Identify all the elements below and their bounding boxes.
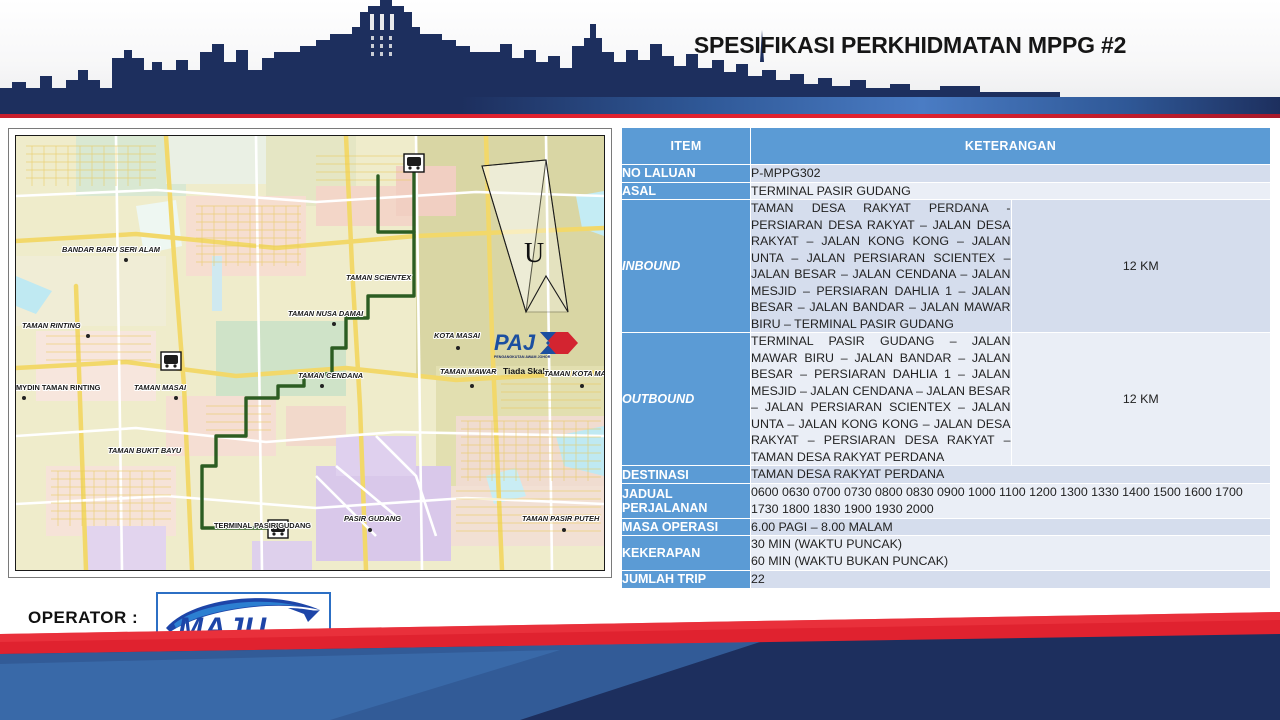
banner-red-bar (0, 114, 1280, 118)
row-value-outbound: TERMINAL PASIR GUDANG – JALAN MAWAR BIRU… (751, 333, 1011, 465)
top-banner: SPESIFIKASI PERKHIDMATAN MPPG #2 (0, 0, 1280, 118)
table-row: JADUAL PERJALANAN0600 0630 0700 0730 080… (622, 484, 1270, 517)
row-value-no-laluan: P-MPPG302 (751, 165, 1270, 182)
row-value-jadual-perjalanan: 0600 0630 0700 0730 0800 0830 0900 1000 … (751, 484, 1270, 517)
table-row: INBOUNDTAMAN DESA RAKYAT PERDANA - PERSI… (622, 200, 1270, 332)
svg-text:TAMAN NUSA DAMAI: TAMAN NUSA DAMAI (288, 309, 364, 318)
bus-stop-icon-north (404, 154, 424, 172)
row-label-jadual-perjalanan: JADUAL PERJALANAN (622, 484, 751, 517)
table-row: NO LALUANP-MPPG302 (622, 165, 1270, 182)
page-title: SPESIFIKASI PERKHIDMATAN MPPG #2 (560, 32, 1260, 59)
row-label-no-laluan: NO LALUAN (622, 165, 751, 182)
table-row: JUMLAH TRIP22 (622, 571, 1270, 588)
table-row: MASA OPERASI6.00 PAGI – 8.00 MALAM (622, 519, 1270, 536)
svg-text:TAMAN CENDANA: TAMAN CENDANA (298, 371, 363, 380)
svg-text:PASIR GUDANG: PASIR GUDANG (344, 514, 401, 523)
table-row: DESTINASITAMAN DESA RAKYAT PERDANA (622, 466, 1270, 483)
col-header-item: ITEM (622, 128, 751, 164)
table-header-row: ITEM KETERANGAN (622, 128, 1270, 164)
col-header-keterangan: KETERANGAN (751, 128, 1270, 164)
row-label-inbound: INBOUND (622, 200, 751, 332)
svg-text:MYDIN TAMAN RINTING: MYDIN TAMAN RINTING (16, 383, 101, 392)
row-value-kekerapan: 30 MIN (WAKTU PUNCAK)60 MIN (WAKTU BUKAN… (751, 536, 1270, 569)
table-row: ASALTERMINAL PASIR GUDANG (622, 183, 1270, 200)
row-label-asal: ASAL (622, 183, 751, 200)
svg-text:TERMINAL PASIR GUDANG: TERMINAL PASIR GUDANG (214, 521, 311, 530)
svg-text:TAMAN KOTA MASAI: TAMAN KOTA MASAI (544, 369, 604, 378)
table-row: KEKERAPAN30 MIN (WAKTU PUNCAK)60 MIN (WA… (622, 536, 1270, 569)
row-distance: 12 KM (1011, 333, 1271, 465)
scale-note: Tiada Skala (503, 366, 550, 376)
row-value-asal: TERMINAL PASIR GUDANG (751, 183, 1270, 200)
row-value-inbound: TAMAN DESA RAKYAT PERDANA - PERSIARAN DE… (751, 200, 1011, 332)
row-value-masa-operasi: 6.00 PAGI – 8.00 MALAM (751, 519, 1270, 536)
service-spec-table: ITEM KETERANGAN NO LALUANP-MPPG302ASALTE… (622, 127, 1270, 589)
row-value-jumlah-trip: 22 (751, 571, 1270, 588)
row-label-masa-operasi: MASA OPERASI (622, 519, 751, 536)
svg-text:BANDAR BARU SERI ALAM: BANDAR BARU SERI ALAM (62, 245, 161, 254)
svg-text:TAMAN BUKIT BAYU: TAMAN BUKIT BAYU (108, 446, 182, 455)
row-distance: 12 KM (1011, 200, 1271, 332)
svg-text:TAMAN MAWAR: TAMAN MAWAR (440, 367, 497, 376)
svg-text:KOTA MASAI: KOTA MASAI (434, 331, 481, 340)
row-label-outbound: OUTBOUND (622, 333, 751, 465)
route-map[interactable]: U PAJ PENGANGKUTAN AWAM JOHOR Tiada Skal… (15, 135, 605, 571)
row-label-kekerapan: KEKERAPAN (622, 536, 751, 569)
svg-text:TAMAN PASIR PUTEH: TAMAN PASIR PUTEH (522, 514, 600, 523)
banner-blue-bar (0, 97, 1280, 114)
paj-subtext: PENGANGKUTAN AWAM JOHOR (494, 355, 551, 359)
row-label-destinasi: DESTINASI (622, 466, 751, 483)
svg-text:TAMAN MASAI: TAMAN MASAI (134, 383, 187, 392)
svg-text:TAMAN SCIENTEX: TAMAN SCIENTEX (346, 273, 412, 282)
north-letter: U (524, 238, 544, 269)
bus-stop-icon-mid (161, 352, 181, 370)
table-row: OUTBOUNDTERMINAL PASIR GUDANG – JALAN MA… (622, 333, 1270, 465)
bottom-navy-band (0, 612, 1280, 720)
svg-text:PAJ: PAJ (494, 330, 536, 355)
row-value-destinasi: TAMAN DESA RAKYAT PERDANA (751, 466, 1270, 483)
row-label-jumlah-trip: JUMLAH TRIP (622, 571, 751, 588)
svg-text:TAMAN RINTING: TAMAN RINTING (22, 321, 81, 330)
